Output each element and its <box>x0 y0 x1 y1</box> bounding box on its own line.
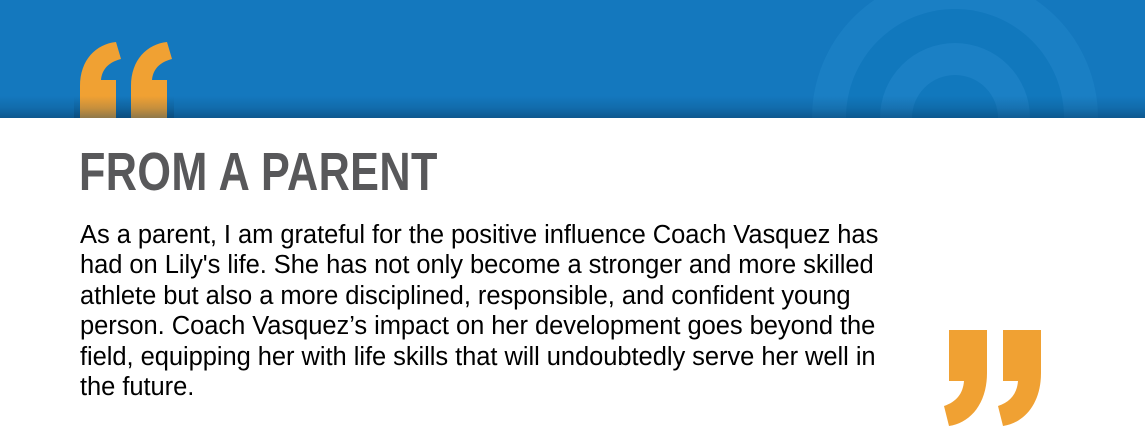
closing-quote-icon <box>944 330 1046 426</box>
testimonial-card: FROM A PARENT As a parent, I am grateful… <box>0 0 1145 438</box>
page-title: FROM A PARENT <box>79 145 438 199</box>
opening-quote-icon <box>74 42 174 118</box>
testimonial-body: As a parent, I am grateful for the posit… <box>80 220 895 402</box>
